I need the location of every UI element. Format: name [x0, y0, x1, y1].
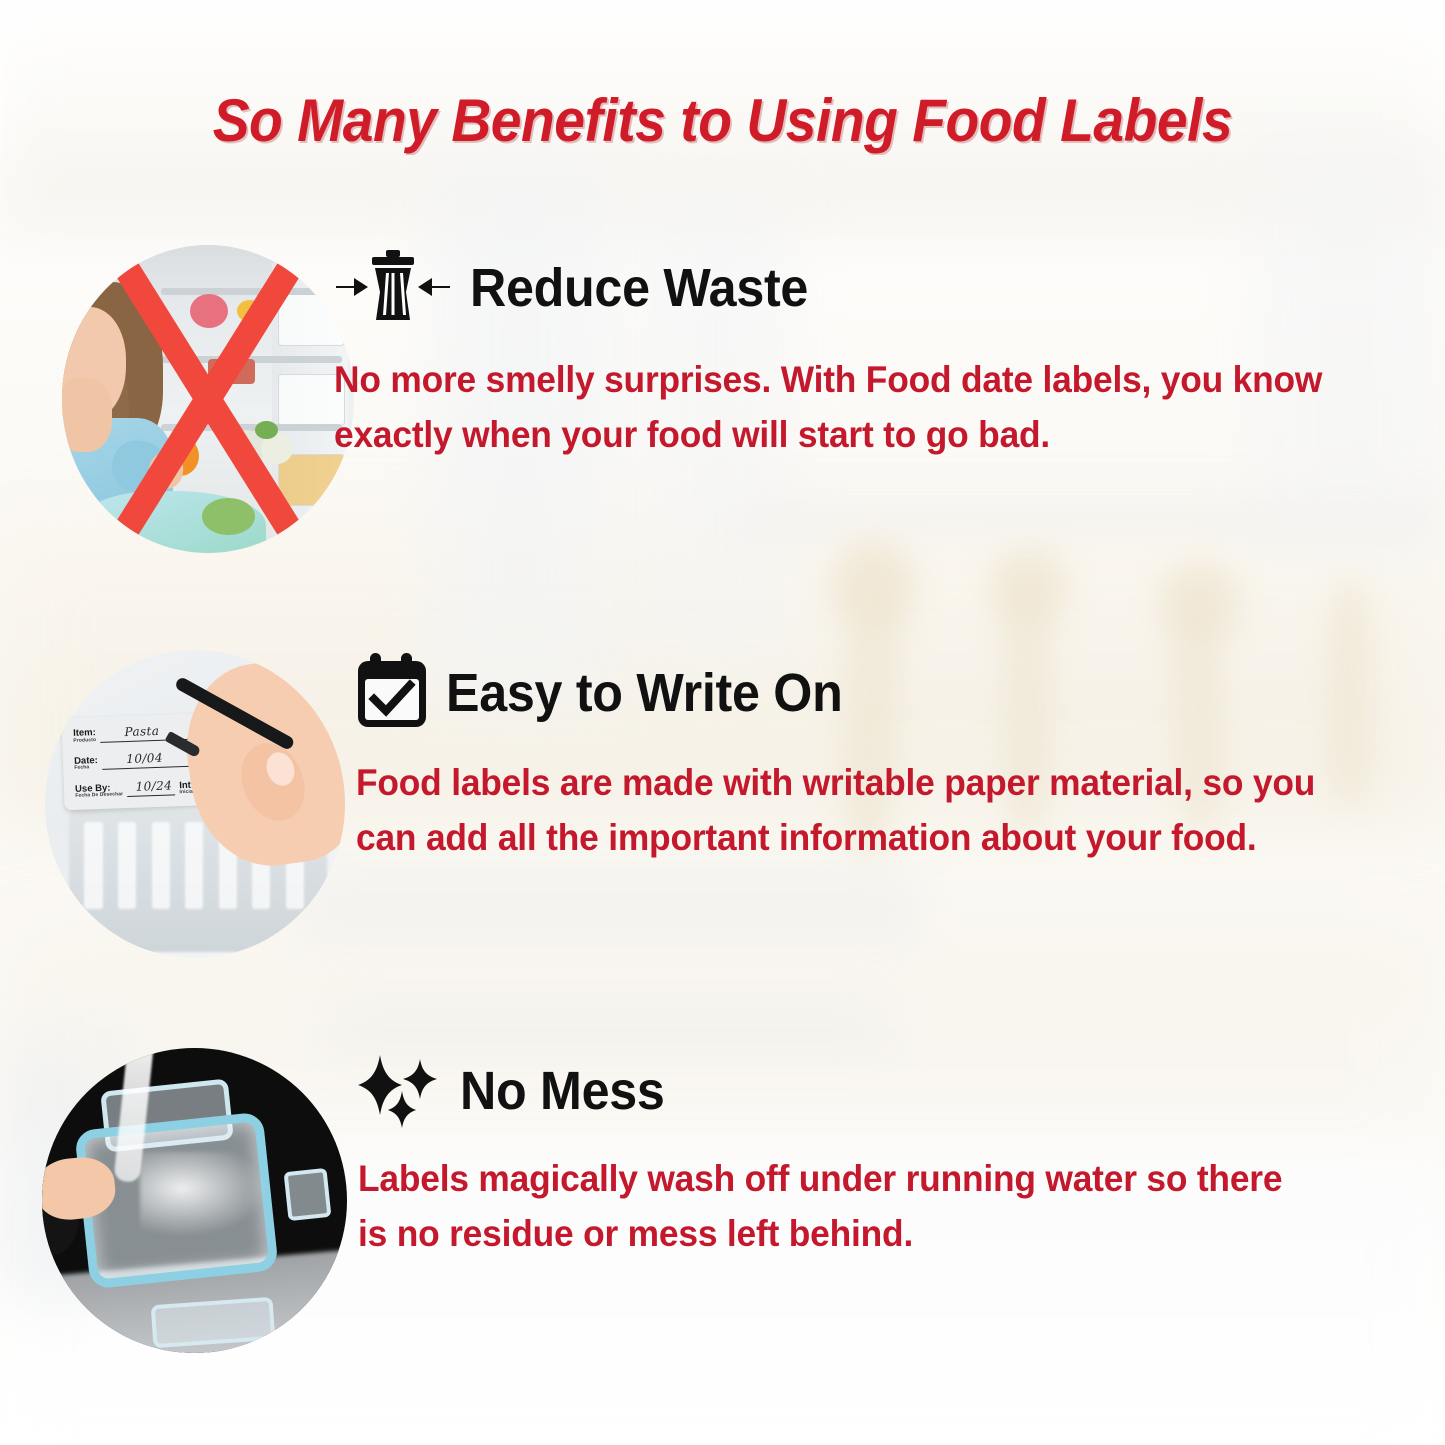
benefit-text-reduce-waste: Reduce Waste No more smelly surprises. W…	[334, 245, 1374, 463]
calendar-check-icon	[356, 653, 428, 734]
label-useby-line: 10/24	[127, 784, 176, 797]
page-title: So Many Benefits to Using Food Labels	[58, 86, 1387, 155]
label-item-value: Pasta	[124, 723, 159, 738]
container-lid-tab	[284, 1168, 332, 1221]
photo-easy-to-write-on: Item: Producto Pasta Date: Fecha 10/04	[45, 650, 345, 958]
label-useby-sub: Fecha De Desechar	[75, 792, 123, 799]
photo-no-mess	[42, 1048, 347, 1353]
woman-hand-pinching-nose	[62, 378, 112, 452]
benefit-heading-2: Easy to Write On	[446, 666, 842, 720]
label-item-sub: Producto	[73, 737, 96, 743]
dish-rack-slat	[84, 822, 102, 910]
label-date-value: 10/04	[126, 751, 163, 766]
benefit-heading-row-3: No Mess	[358, 1048, 1358, 1134]
benefit-heading-row-1: Reduce Waste	[334, 245, 1374, 331]
label-useby-value: 10/24	[135, 778, 172, 793]
benefit-body-3: Labels magically wash off under running …	[358, 1152, 1313, 1262]
dish-rack-slat	[118, 822, 136, 910]
trash-can-reduce-icon	[334, 248, 452, 329]
dish-rack-slat	[185, 822, 203, 910]
container-lid-front	[150, 1297, 275, 1348]
benefit-heading-row-2: Easy to Write On	[356, 650, 1391, 736]
water-splash	[140, 1152, 280, 1244]
benefit-text-easy-to-write-on: Easy to Write On Food labels are made wi…	[356, 650, 1391, 866]
benefit-heading-1: Reduce Waste	[470, 261, 808, 315]
fridge-lettuce	[202, 498, 255, 535]
label-useby-key: Use By: Fecha De Desechar	[75, 782, 123, 798]
benefit-body-1: No more smelly surprises. With Food date…	[334, 353, 1375, 463]
photo-reduce-waste	[62, 245, 354, 553]
dish-rack-slat	[152, 822, 170, 910]
benefit-text-no-mess: No Mess Labels magically wash off under …	[358, 1048, 1358, 1262]
label-date-key: Date: Fecha	[74, 756, 98, 771]
benefit-heading-3: No Mess	[460, 1064, 665, 1118]
sparkles-icon	[358, 1049, 442, 1134]
fridge-produce-greens	[255, 421, 278, 439]
label-item-key: Item: Producto	[73, 728, 96, 743]
benefit-body-2: Food labels are made with writable paper…	[356, 756, 1344, 866]
